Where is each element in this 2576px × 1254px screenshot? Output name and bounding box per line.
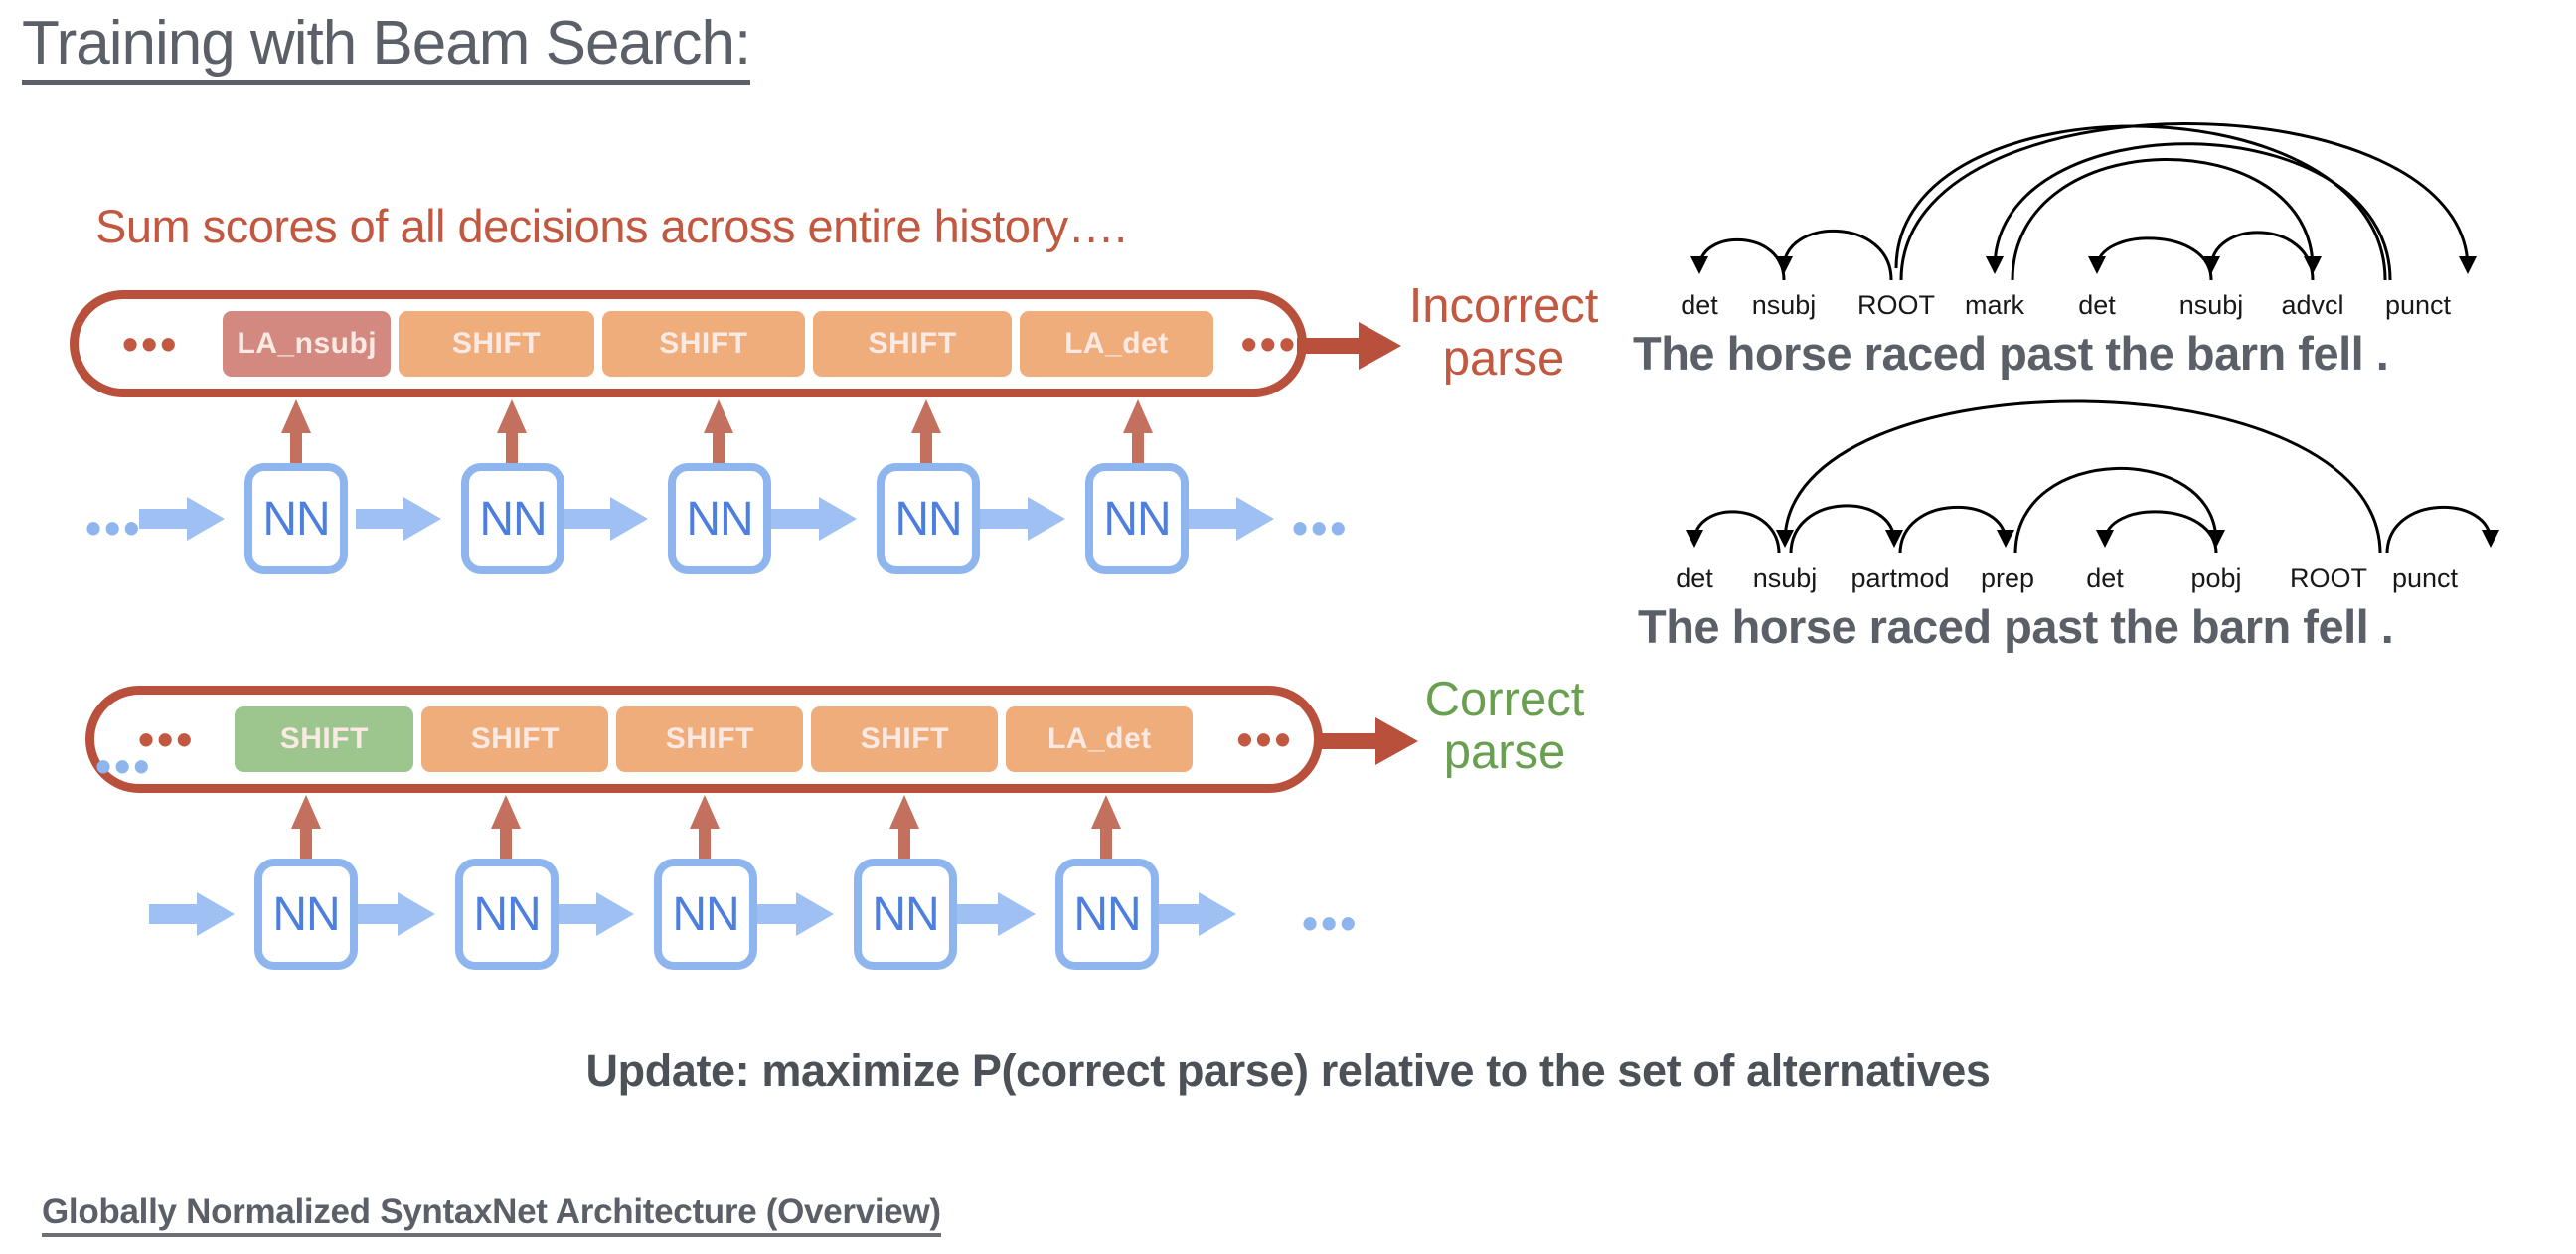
dep-label-det2: det (2078, 290, 2116, 321)
nn-box-1-3[interactable]: NN (668, 463, 771, 574)
update-caption: Update: maximize P(correct parse) relati… (0, 1045, 2576, 1097)
nn-box-2-3[interactable]: NN (654, 859, 757, 970)
action-box-shift-correct[interactable]: SHIFT (235, 706, 413, 772)
dep-label-pobj: pobj (2190, 563, 2241, 594)
dep-label-mark: mark (1965, 290, 2024, 321)
beam-score-subtitle: Sum scores of all decisions across entir… (95, 199, 1127, 253)
beam-leading-ellipsis: ••• (122, 333, 179, 356)
nn-chain-tail-dots-2: ••• (1302, 912, 1359, 935)
dep-label-advcl: advcl (2281, 290, 2343, 321)
beam-trailing-ellipsis: ••• (1236, 728, 1293, 751)
verdict-line-2: parse (1389, 333, 1618, 386)
footer-note: Globally Normalized SyntaxNet Architectu… (42, 1192, 941, 1237)
dep-label-det2: det (2086, 563, 2124, 594)
dep-label-root: ROOT (2290, 563, 2367, 594)
incorrect-parse-tree: det nsubj ROOT mark det nsubj advcl punc… (1645, 60, 2559, 318)
nn-chain-lead-dots-2: ••• (95, 755, 152, 778)
dep-label-punct: punct (2392, 563, 2458, 594)
nn-chain-lead-dots-1: ••• (85, 517, 142, 540)
dep-label-root: ROOT (1857, 290, 1935, 321)
dep-label-nsubj: nsubj (1752, 290, 1817, 321)
incorrect-beam-capsule: ••• LA_nsubj SHIFT SHIFT SHIFT LA_det ••… (70, 290, 1307, 397)
nn-box-1-5[interactable]: NN (1085, 463, 1189, 574)
action-box-shift-1[interactable]: SHIFT (399, 311, 593, 377)
beam-trailing-ellipsis: ••• (1241, 333, 1298, 356)
dep-label-nsubj: nsubj (1753, 563, 1818, 594)
action-box-shift-1[interactable]: SHIFT (421, 706, 608, 772)
action-box-shift-3[interactable]: SHIFT (813, 311, 1012, 377)
verdict-line-1: Correct (1395, 674, 1614, 726)
dep-label-punct: punct (2385, 290, 2451, 321)
dep-label-det: det (1681, 290, 1718, 321)
parse-sentence-correct: The horse raced past the barn fell . (1638, 599, 2393, 654)
nn-box-1-4[interactable]: NN (877, 463, 980, 574)
correct-parse-verdict: Correct parse (1395, 674, 1614, 779)
nn-box-2-1[interactable]: NN (254, 859, 358, 970)
incorrect-parse-arcs (1645, 60, 2559, 288)
page-title: Training with Beam Search: (22, 8, 750, 85)
nn-box-2-2[interactable]: NN (455, 859, 559, 970)
action-box-la-det[interactable]: LA_det (1020, 311, 1212, 377)
incorrect-parse-verdict: Incorrect parse (1389, 280, 1618, 386)
action-box-shift-2[interactable]: SHIFT (602, 311, 805, 377)
verdict-line-2: parse (1395, 726, 1614, 779)
nn-chain-tail-dots-1: ••• (1292, 517, 1349, 540)
dep-label-prep: prep (1981, 563, 2034, 594)
dep-label-nsubj2: nsubj (2179, 290, 2244, 321)
nn-box-1-1[interactable]: NN (244, 463, 348, 574)
nn-box-1-2[interactable]: NN (461, 463, 564, 574)
dep-label-det: det (1676, 563, 1713, 594)
action-box-la-det[interactable]: LA_det (1006, 706, 1193, 772)
correct-beam-capsule: ••• SHIFT SHIFT SHIFT SHIFT LA_det ••• (85, 686, 1323, 793)
action-box-shift-3[interactable]: SHIFT (811, 706, 998, 772)
action-box-la-nsubj[interactable]: LA_nsubj (223, 311, 391, 377)
correct-parse-tree: det nsubj partmod prep det pobj ROOT pun… (1640, 333, 2554, 591)
dep-label-partmod: partmod (1851, 563, 1949, 594)
nn-box-2-5[interactable]: NN (1055, 859, 1159, 970)
correct-parse-arcs (1640, 333, 2554, 561)
action-box-shift-2[interactable]: SHIFT (616, 706, 803, 772)
nn-box-2-4[interactable]: NN (854, 859, 957, 970)
verdict-line-1: Incorrect (1389, 280, 1618, 333)
